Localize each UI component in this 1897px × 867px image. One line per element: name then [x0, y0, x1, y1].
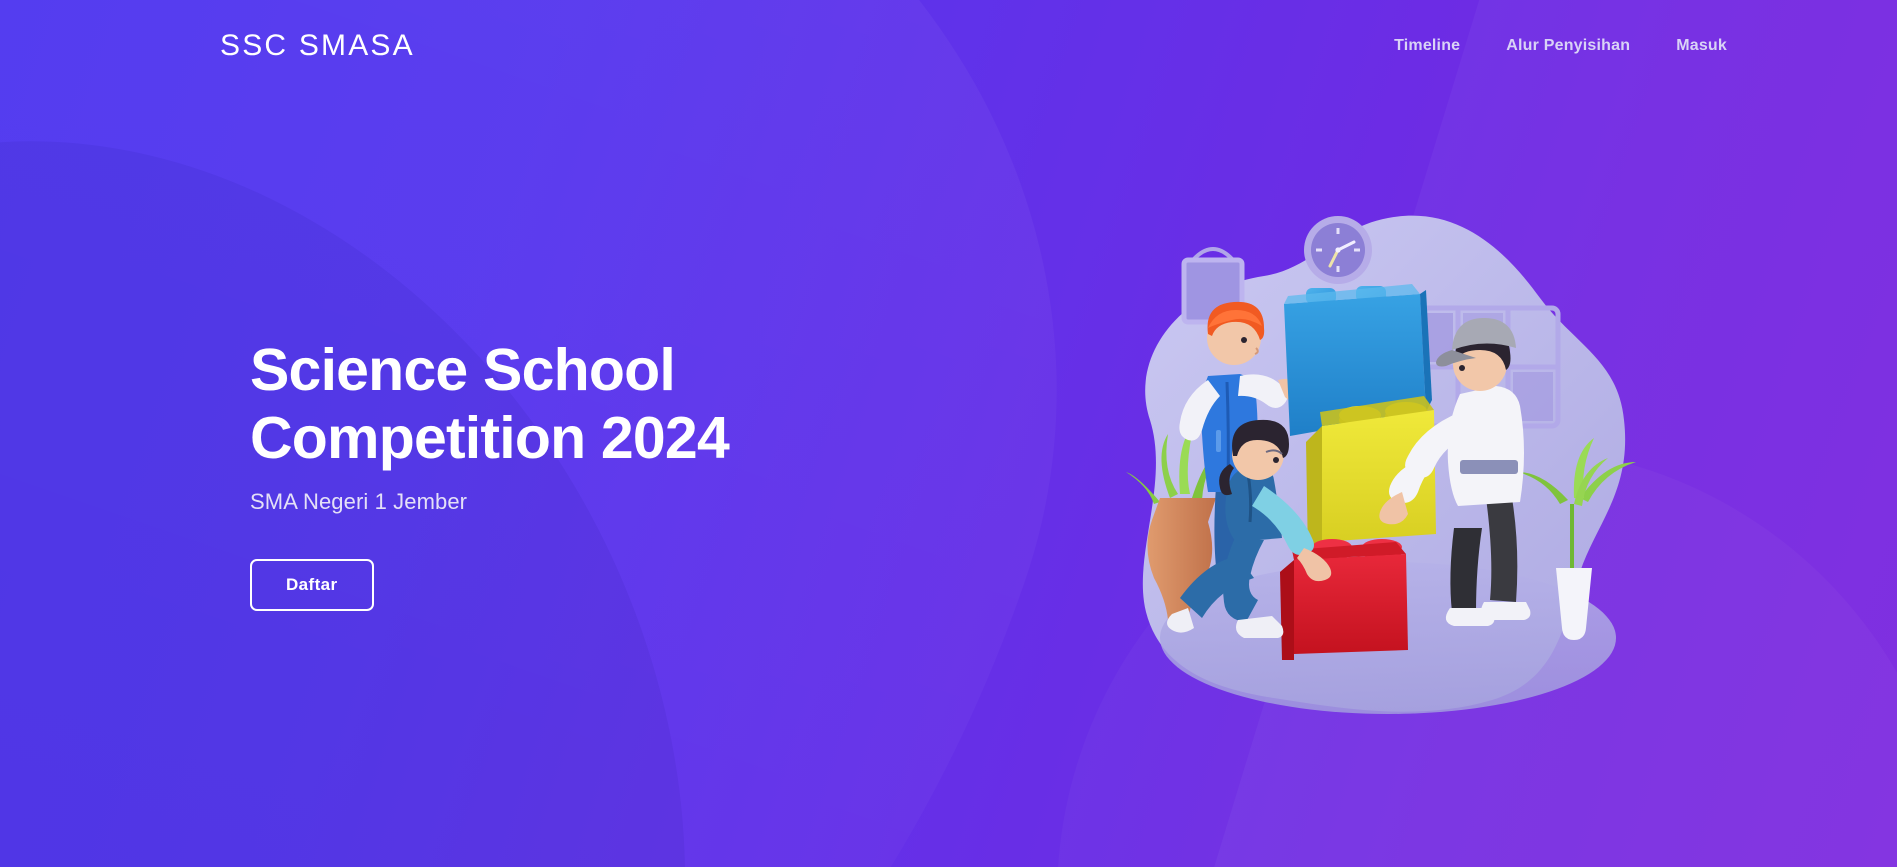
wall-clock-icon: [1304, 216, 1372, 284]
navbar: SSC SMASA Timeline Alur Penyisihan Masuk: [0, 0, 1897, 92]
page-title: Science School Competition 2024: [250, 336, 870, 473]
hero-title-line-1: Science School: [250, 337, 675, 403]
nav-links: Timeline Alur Penyisihan Masuk: [1394, 37, 1833, 55]
hero-title-line-2: Competition 2024: [250, 405, 729, 471]
hero-illustration: [1088, 168, 1648, 728]
nav-link-timeline[interactable]: Timeline: [1394, 37, 1460, 55]
daftar-button[interactable]: Daftar: [250, 559, 374, 611]
nav-link-masuk[interactable]: Masuk: [1676, 37, 1727, 55]
hero-subtitle: SMA Negeri 1 Jember: [250, 489, 1010, 515]
hero-section: SSC SMASA Timeline Alur Penyisihan Masuk…: [0, 0, 1897, 867]
nav-link-alur-penyisihan[interactable]: Alur Penyisihan: [1506, 37, 1630, 55]
brand-logo[interactable]: SSC SMASA: [220, 29, 415, 63]
hero-copy: Science School Competition 2024 SMA Nege…: [250, 336, 1010, 611]
